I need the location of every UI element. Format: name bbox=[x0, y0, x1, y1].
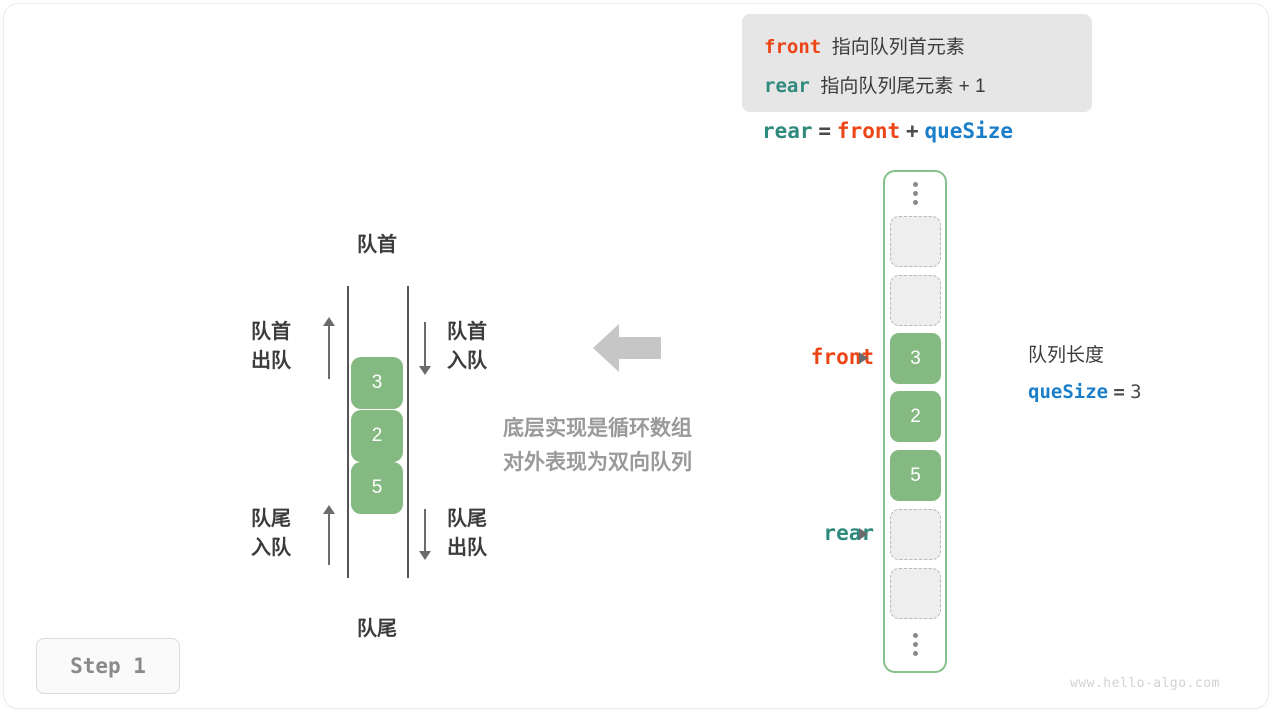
deque-top-label: 队首 bbox=[347, 228, 407, 257]
arrow-front-enqueue-head-icon bbox=[419, 366, 431, 375]
op-rear-enqueue-line1: 队尾 bbox=[251, 505, 291, 534]
op-front-dequeue-line2: 出队 bbox=[251, 347, 291, 376]
array-cell-5 bbox=[890, 509, 941, 560]
array-pointer-front-arrow-icon bbox=[859, 352, 868, 364]
deque-cell-0: 3 bbox=[351, 357, 403, 409]
op-rear-enqueue-line2: 入队 bbox=[251, 534, 291, 563]
arrow-front-dequeue-head-icon bbox=[323, 317, 335, 326]
watermark: www.hello-algo.com bbox=[1070, 676, 1220, 691]
queue-size-note: 队列长度 queSize = 3 bbox=[1028, 338, 1142, 411]
deque-right-rail bbox=[407, 286, 409, 578]
queue-size-expression: queSize = 3 bbox=[1028, 374, 1142, 411]
legend-text-rear: 指向队列尾元素 + 1 bbox=[820, 76, 985, 97]
array-pointer-rear-arrow-icon bbox=[859, 528, 868, 540]
implementation-note-line1: 底层实现是循环数组 bbox=[503, 412, 692, 446]
op-front-enqueue-label: 队首 入队 bbox=[447, 318, 487, 376]
op-rear-dequeue-line2: 出队 bbox=[447, 534, 487, 563]
step-badge: Step 1 bbox=[36, 638, 180, 694]
implementation-note: 底层实现是循环数组 对外表现为双向队列 bbox=[503, 412, 692, 480]
formula-lhs: rear bbox=[762, 119, 813, 143]
queue-size-title: 队列长度 bbox=[1028, 338, 1142, 374]
formula-plus: + bbox=[906, 119, 919, 143]
arrow-front-dequeue-shaft bbox=[328, 325, 330, 379]
array-cell-0 bbox=[890, 216, 941, 267]
op-rear-enqueue-label: 队尾 入队 bbox=[251, 505, 291, 563]
arrow-rear-dequeue-shaft bbox=[424, 509, 426, 553]
array-cell-6 bbox=[890, 568, 941, 619]
op-rear-dequeue-line1: 队尾 bbox=[447, 505, 487, 534]
op-rear-dequeue-label: 队尾 出队 bbox=[447, 505, 487, 563]
legend-box: front 指向队列首元素 rear 指向队列尾元素 + 1 bbox=[742, 14, 1092, 112]
queue-size-var: queSize bbox=[1028, 381, 1108, 403]
legend-line-front: front 指向队列首元素 bbox=[764, 32, 965, 59]
op-front-dequeue-line1: 队首 bbox=[251, 318, 291, 347]
queue-size-value: 3 bbox=[1130, 381, 1141, 403]
formula-equals: = bbox=[818, 119, 831, 143]
diagram-canvas: front 指向队列首元素 rear 指向队列尾元素 + 1 rear = fr… bbox=[0, 0, 1280, 720]
array-cell-1 bbox=[890, 275, 941, 326]
arrow-rear-enqueue-head-icon bbox=[323, 505, 335, 514]
array-cell-4: 5 bbox=[890, 450, 941, 501]
formula-front: front bbox=[837, 119, 900, 143]
formula-quesize: queSize bbox=[924, 119, 1013, 143]
mapping-left-arrow-icon bbox=[593, 322, 663, 374]
legend-line-rear: rear 指向队列尾元素 + 1 bbox=[764, 71, 986, 98]
array-cell-3: 2 bbox=[890, 391, 941, 442]
deque-cell-1: 2 bbox=[351, 410, 403, 462]
deque-cell-2: 5 bbox=[351, 462, 403, 514]
deque-bottom-label: 队尾 bbox=[347, 612, 407, 641]
op-front-enqueue-line2: 入队 bbox=[447, 347, 487, 376]
array-bottom-ellipsis bbox=[908, 633, 922, 656]
formula-rear-equals: rear = front + queSize bbox=[762, 119, 1013, 144]
arrow-front-enqueue-shaft bbox=[424, 322, 426, 368]
legend-text-front: 指向队列首元素 bbox=[832, 37, 965, 58]
op-front-dequeue-label: 队首 出队 bbox=[251, 318, 291, 376]
arrow-rear-dequeue-head-icon bbox=[419, 551, 431, 560]
queue-size-equals: = bbox=[1113, 381, 1124, 403]
deque-left-rail bbox=[347, 286, 349, 578]
array-cell-2: 3 bbox=[890, 333, 941, 384]
arrow-rear-enqueue-shaft bbox=[328, 513, 330, 565]
op-front-enqueue-line1: 队首 bbox=[447, 318, 487, 347]
implementation-note-line2: 对外表现为双向队列 bbox=[503, 446, 692, 480]
legend-symbol-front: front bbox=[764, 36, 821, 58]
array-top-ellipsis bbox=[908, 182, 922, 205]
legend-symbol-rear: rear bbox=[764, 75, 810, 97]
